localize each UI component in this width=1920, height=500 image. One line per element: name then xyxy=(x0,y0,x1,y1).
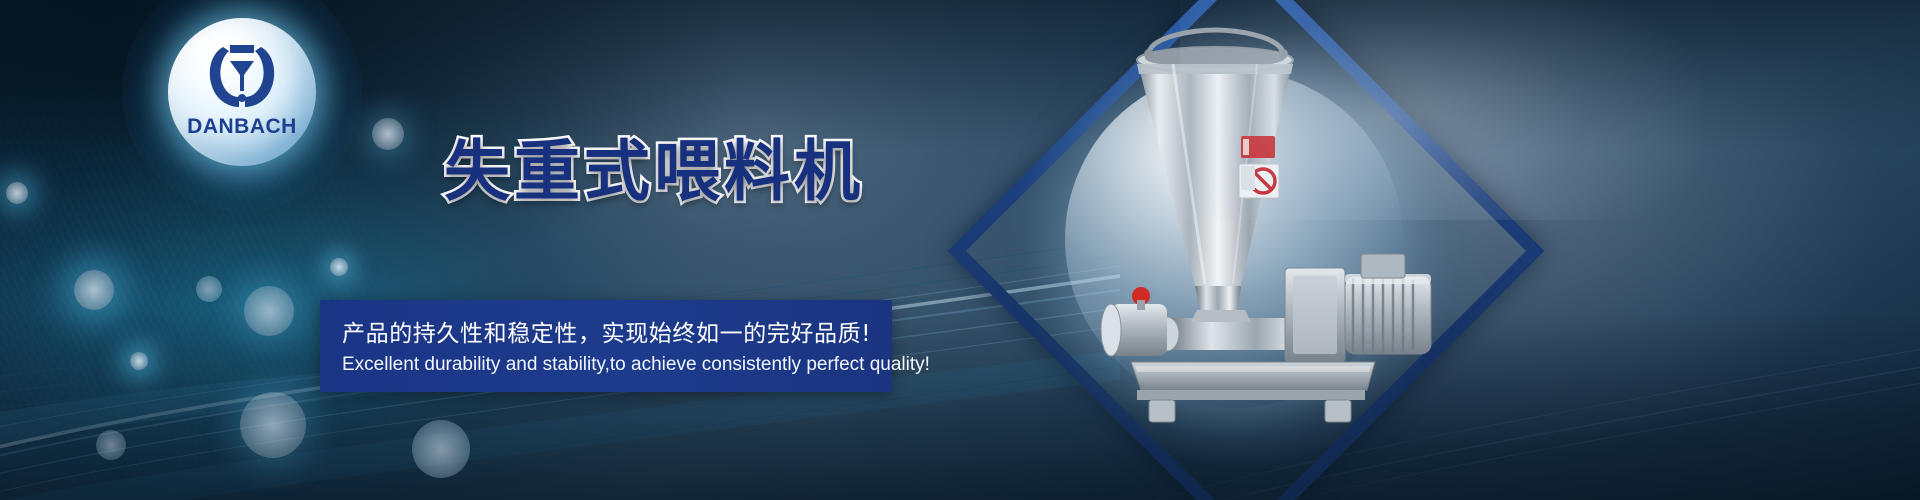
product-showcase xyxy=(895,0,1695,500)
bokeh-circle xyxy=(6,182,28,204)
bokeh-circle xyxy=(244,286,294,336)
bokeh-circle xyxy=(412,420,470,478)
tagline-chinese: 产品的持久性和稳定性，实现始终如一的完好品质! xyxy=(342,314,871,348)
tagline-english: Excellent durability and stability,to ac… xyxy=(342,354,930,376)
bokeh-circle xyxy=(96,430,126,460)
brand-wordmark: DANBACH xyxy=(168,115,316,139)
bokeh-circle xyxy=(196,276,222,302)
bokeh-circle xyxy=(372,118,404,150)
brand-logo[interactable]: DANBACH xyxy=(168,18,316,166)
bokeh-circle xyxy=(240,392,306,458)
product-hero-banner: DANBACH 失重式喂料机 产品的持久性和稳定性，实现始终如一的完好品质! E… xyxy=(0,0,1920,500)
bokeh-circle xyxy=(74,270,114,310)
bokeh-circle xyxy=(130,352,148,370)
tagline-panel: 产品的持久性和稳定性，实现始终如一的完好品质! Excellent durabi… xyxy=(320,300,892,392)
bokeh-circle xyxy=(330,258,348,276)
page-title: 失重式喂料机 xyxy=(444,118,864,214)
danbach-globe-logo-icon xyxy=(199,41,285,113)
loss-in-weight-feeder-machine-image xyxy=(1045,18,1465,458)
